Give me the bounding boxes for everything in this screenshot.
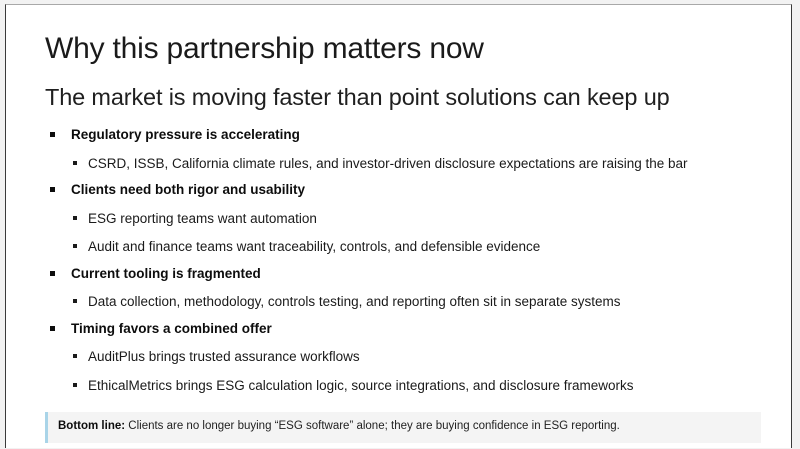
bullet-level2-label: EthicalMetrics brings ESG calculation lo… (88, 378, 633, 393)
bullet-level1-label: Clients need both rigor and usability (71, 182, 305, 197)
callout-label: Bottom line: (58, 420, 125, 432)
bullet-level2-label: Data collection, methodology, controls t… (88, 294, 621, 309)
bullet-level1: Clients need both rigor and usability (45, 181, 757, 199)
bullet-level2-label: CSRD, ISSB, California climate rules, an… (88, 156, 688, 171)
square-subbullet-icon (73, 161, 77, 165)
bullet-level2: AuditPlus brings trusted assurance workf… (45, 348, 757, 366)
square-subbullet-icon (73, 299, 77, 303)
slide-content: Why this partnership matters now The mar… (6, 5, 791, 448)
square-subbullet-icon (73, 244, 77, 248)
bullet-level2: Data collection, methodology, controls t… (45, 293, 757, 311)
bullet-level1-label: Timing favors a combined offer (71, 321, 272, 336)
square-bullet-icon (50, 187, 55, 192)
bullet-group: Current tooling is fragmented Data colle… (45, 265, 757, 311)
square-bullet-icon (50, 271, 55, 276)
slide-canvas: Why this partnership matters now The mar… (5, 4, 792, 448)
bullet-group: Regulatory pressure is accelerating CSRD… (45, 126, 757, 172)
sub-bullet-list: CSRD, ISSB, California climate rules, an… (45, 155, 757, 173)
square-bullet-icon (50, 132, 55, 137)
bullet-group: Clients need both rigor and usability ES… (45, 181, 757, 256)
bullet-level1: Timing favors a combined offer (45, 320, 757, 338)
square-subbullet-icon (73, 216, 77, 220)
bullet-level1: Current tooling is fragmented (45, 265, 757, 283)
bullet-level2: CSRD, ISSB, California climate rules, an… (45, 155, 757, 173)
bullet-level1: Regulatory pressure is accelerating (45, 126, 757, 144)
bullet-level2: Audit and finance teams want traceabilit… (45, 238, 757, 256)
bullet-level2: ESG reporting teams want automation (45, 210, 757, 228)
bullet-level2-label: Audit and finance teams want traceabilit… (88, 239, 540, 254)
bullet-level1-label: Regulatory pressure is accelerating (71, 127, 300, 142)
sub-bullet-list: AuditPlus brings trusted assurance workf… (45, 348, 757, 394)
bottom-line-callout: Bottom line: Clients are no longer buyin… (45, 412, 761, 443)
sub-bullet-list: Data collection, methodology, controls t… (45, 293, 757, 311)
bullet-level2-label: AuditPlus brings trusted assurance workf… (88, 349, 360, 364)
bullet-level2: EthicalMetrics brings ESG calculation lo… (45, 377, 757, 395)
slide-subtitle: The market is moving faster than point s… (45, 65, 757, 111)
sub-bullet-list: ESG reporting teams want automation Audi… (45, 210, 757, 256)
bullet-list: Regulatory pressure is accelerating CSRD… (45, 111, 757, 394)
bullet-level1-label: Current tooling is fragmented (71, 266, 261, 281)
square-subbullet-icon (73, 383, 77, 387)
callout-accent-bar (45, 412, 48, 443)
slide-title: Why this partnership matters now (45, 5, 757, 65)
slide-viewport: Why this partnership matters now The mar… (0, 0, 800, 449)
square-subbullet-icon (73, 354, 77, 358)
callout-text: Clients are no longer buying “ESG softwa… (125, 420, 620, 432)
bullet-group: Timing favors a combined offer AuditPlus… (45, 320, 757, 395)
bullet-level2-label: ESG reporting teams want automation (88, 211, 317, 226)
square-bullet-icon (50, 326, 55, 331)
